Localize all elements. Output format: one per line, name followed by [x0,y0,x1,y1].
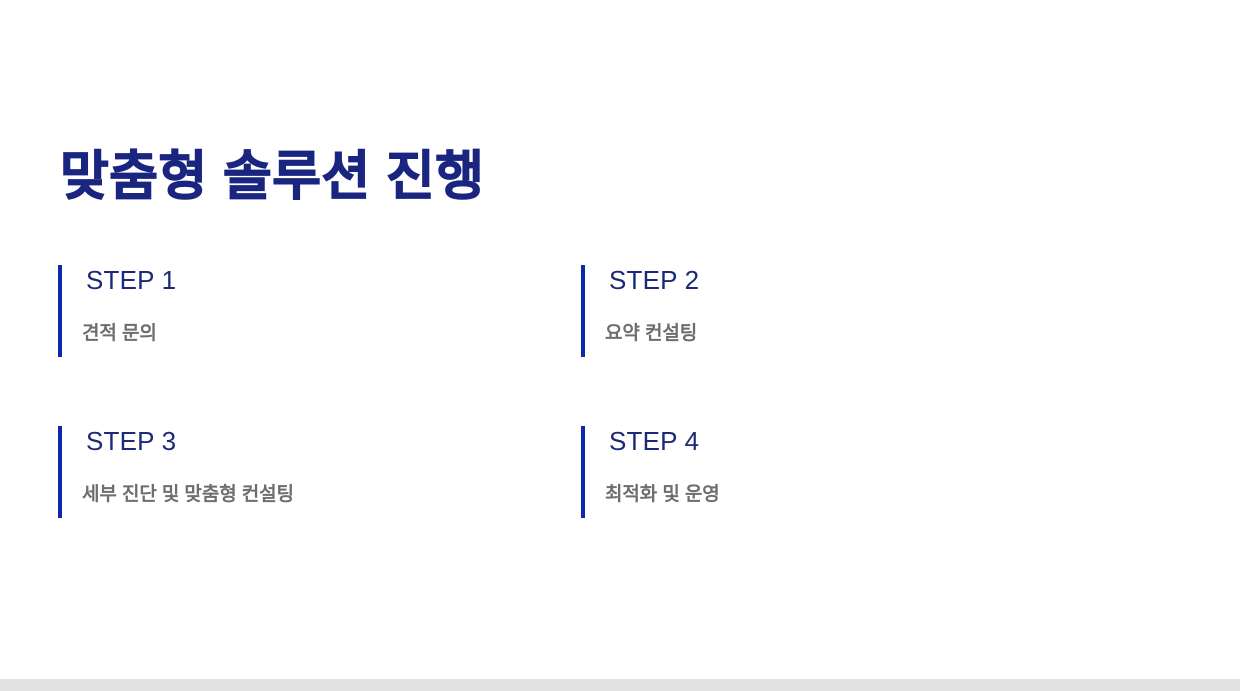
step-description-1: 견적 문의 [82,321,478,347]
step-description-3: 세부 진단 및 맞춤형 컨설팅 [82,482,478,508]
bottom-divider-band [0,679,1240,691]
step-label-4: STEP 4 [609,426,1001,456]
step-label-2: STEP 2 [609,265,1001,295]
step-description-2: 요약 컨설팅 [605,321,1001,347]
step-card-2: STEP 2 요약 컨설팅 [581,265,1001,357]
steps-grid: STEP 1 견적 문의 STEP 2 요약 컨설팅 STEP 3 세부 진단 … [0,0,1240,691]
step-card-1: STEP 1 견적 문의 [58,265,478,357]
step-label-1: STEP 1 [86,265,478,295]
slide-canvas: 맞춤형 솔루션 진행 STEP 1 견적 문의 STEP 2 요약 컨설팅 ST… [0,0,1240,691]
step-card-3: STEP 3 세부 진단 및 맞춤형 컨설팅 [58,426,478,518]
step-label-3: STEP 3 [86,426,478,456]
step-description-4: 최적화 및 운영 [605,482,1001,508]
step-card-4: STEP 4 최적화 및 운영 [581,426,1001,518]
